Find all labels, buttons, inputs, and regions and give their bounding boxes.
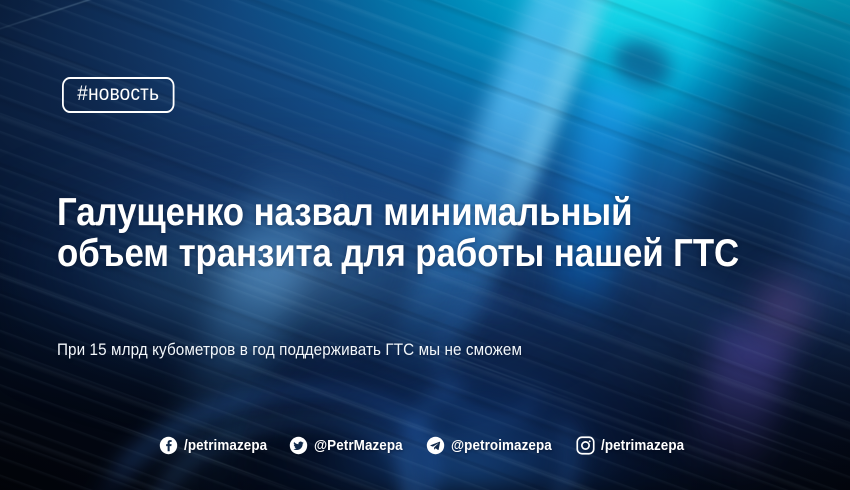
- instagram-icon: [576, 436, 595, 455]
- social-link-telegram[interactable]: @petroimazepa: [426, 436, 561, 455]
- social-link-instagram[interactable]: /petrimazepa: [576, 436, 691, 455]
- page-title: Галущенко назвал минимальный объем транз…: [57, 192, 754, 274]
- social-handle-instagram: /petrimazepa: [601, 438, 684, 454]
- social-link-facebook[interactable]: /petrimazepa: [159, 436, 274, 455]
- telegram-icon: [426, 436, 445, 455]
- twitter-icon: [289, 436, 308, 455]
- hashtag-badge[interactable]: #новость: [62, 77, 175, 113]
- social-links-row: /petrimazepa @PetrMazepa @petroimazepa: [0, 436, 850, 455]
- card-content: #новость Галущенко назвал минимальный об…: [0, 0, 850, 490]
- subtitle-text: При 15 млрд кубометров в год поддерживат…: [57, 340, 782, 361]
- news-social-card: #новость Галущенко назвал минимальный об…: [0, 0, 850, 490]
- social-handle-facebook: /petrimazepa: [184, 438, 267, 454]
- social-link-twitter[interactable]: @PetrMazepa: [289, 436, 410, 455]
- social-handle-twitter: @PetrMazepa: [314, 438, 403, 454]
- social-handle-telegram: @petroimazepa: [451, 438, 552, 454]
- facebook-icon: [159, 436, 178, 455]
